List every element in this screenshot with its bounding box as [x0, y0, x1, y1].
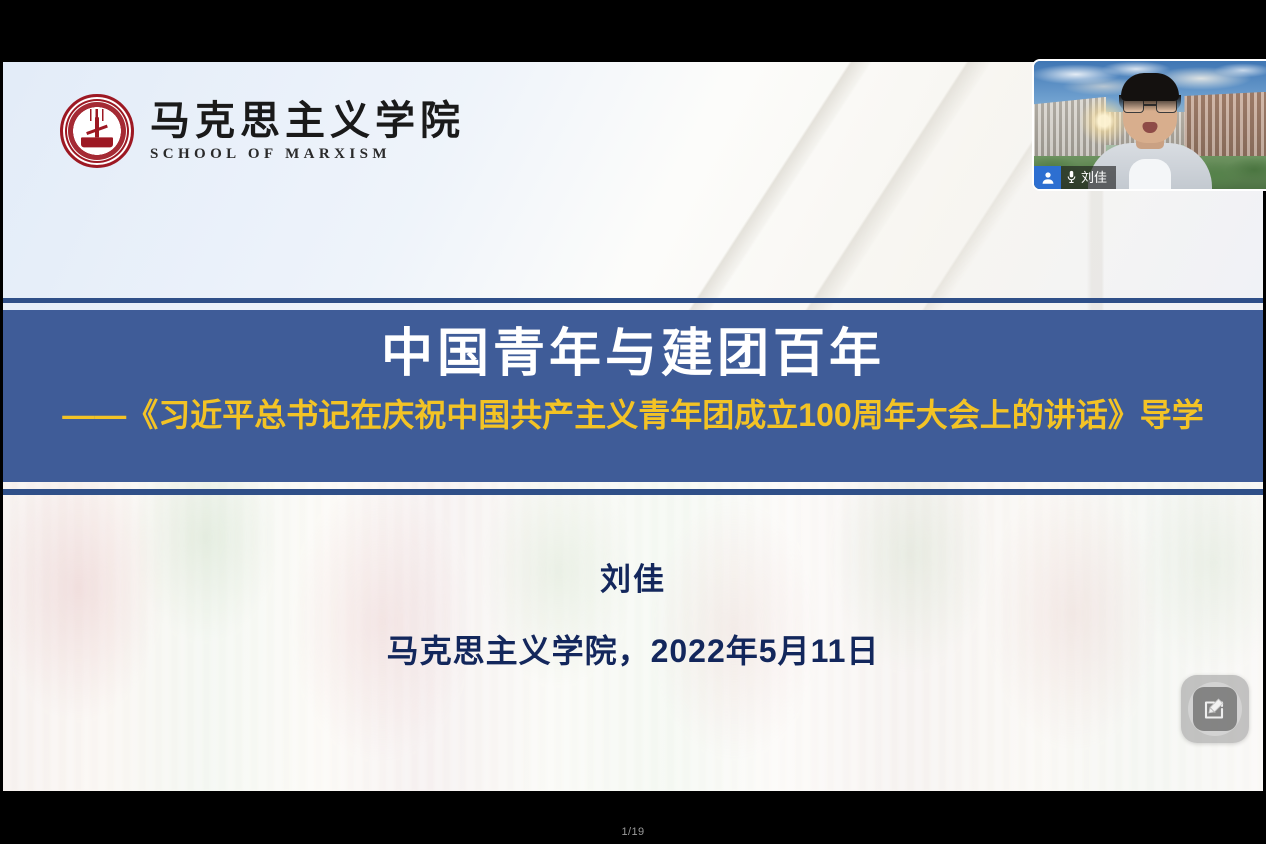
microphone-icon [1066, 170, 1077, 186]
annotate-button[interactable] [1181, 675, 1249, 743]
presenter-name: 刘佳 [3, 554, 1263, 599]
video-conference-stage: 马克思主义学院 SCHOOL OF MARXISM 中国青年与建团百年 ——《习… [0, 0, 1266, 844]
annotate-pencil-icon [1202, 696, 1228, 722]
title-rule-bottom [3, 489, 1263, 495]
logo-chinese-name: 马克思主义学院 [150, 100, 465, 142]
participant-name-badge: 刘佳 [1034, 166, 1116, 189]
title-rule-top [3, 298, 1263, 303]
self-view-video-tile[interactable]: 刘佳 [1032, 59, 1266, 191]
logo-english-name: SCHOOL OF MARXISM [150, 146, 465, 163]
slide-title: 中国青年与建团百年 [381, 326, 885, 383]
user-silhouette-icon [1034, 166, 1061, 189]
presenter-block: 刘佳 马克思主义学院，2022年5月11日 [3, 554, 1263, 672]
logo-wordmark: 马克思主义学院 SCHOOL OF MARXISM [150, 100, 465, 163]
title-band: 中国青年与建团百年 ——《习近平总书记在庆祝中国共产主义青年团成立100周年大会… [3, 310, 1263, 482]
presenter-affiliation: 马克思主义学院，2022年5月11日 [3, 626, 1263, 672]
participant-name-label: 刘佳 [1081, 171, 1107, 184]
school-logo: 马克思主义学院 SCHOOL OF MARXISM [60, 94, 465, 168]
university-seal-icon [60, 94, 134, 168]
participant-name-wrap: 刘佳 [1061, 166, 1116, 189]
slide-subtitle: ——《习近平总书记在庆祝中国共产主义青年团成立100周年大会上的讲话》导学 [62, 397, 1203, 434]
page-indicator: 1/19 [0, 826, 1266, 838]
annotate-icon-wrap [1193, 687, 1237, 731]
